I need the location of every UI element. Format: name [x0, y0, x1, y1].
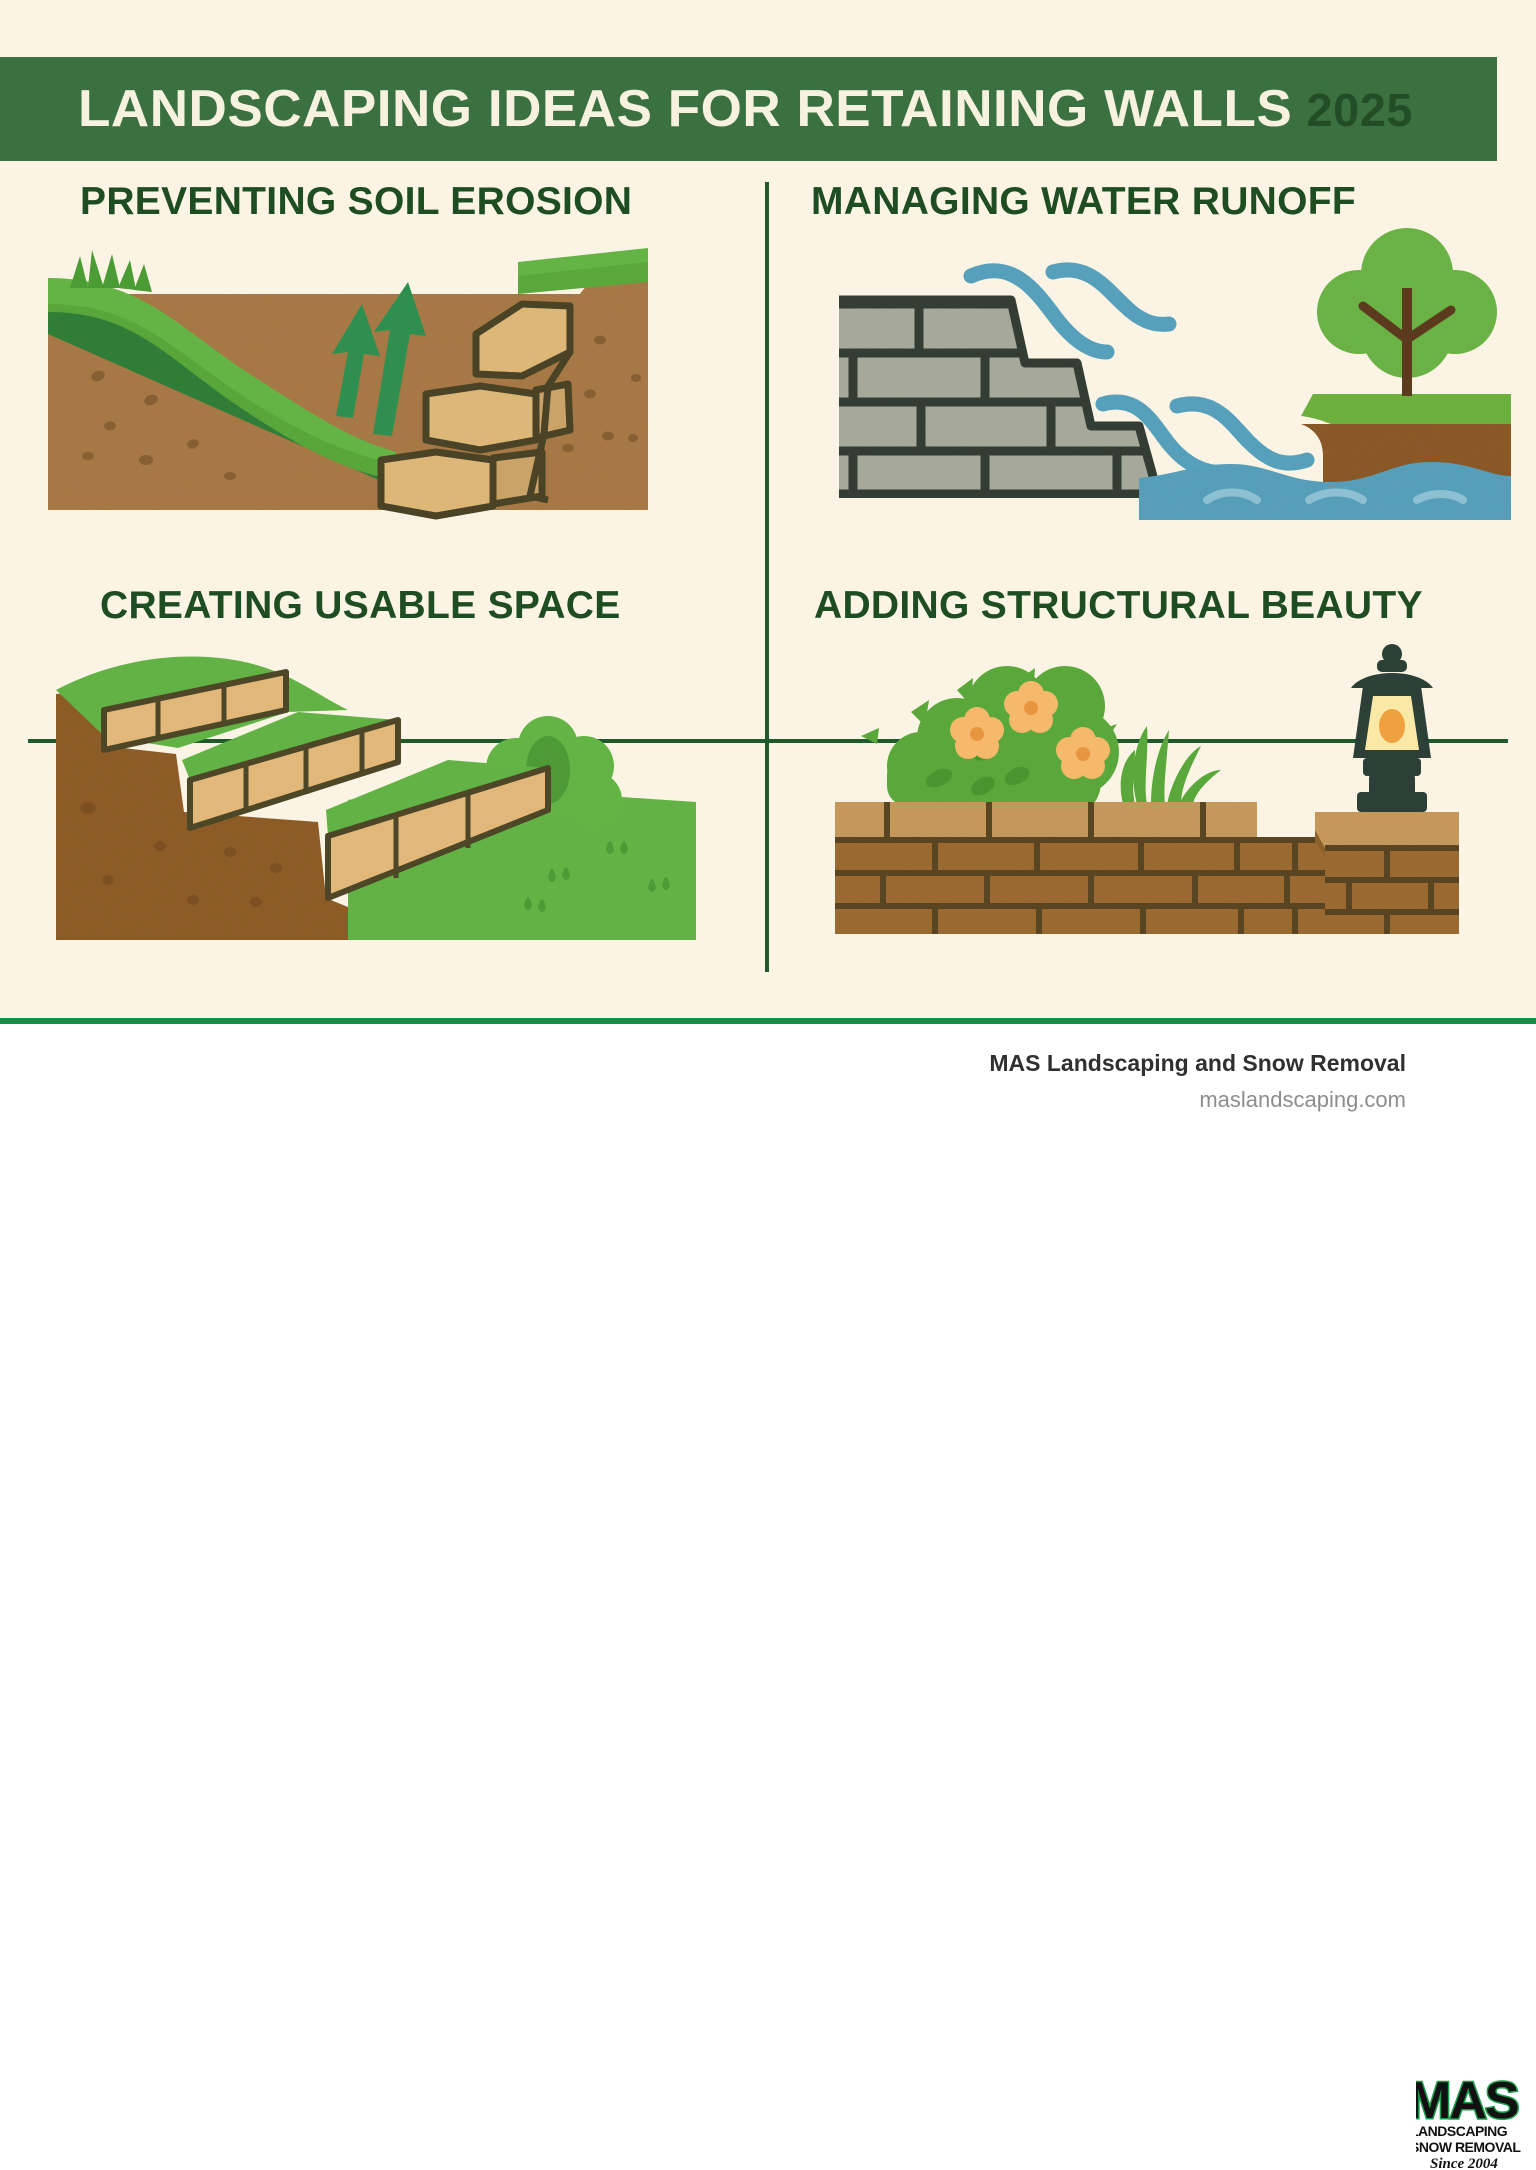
logo-subtitle: LANDSCAPING SNOW REMOVAL: [1416, 2123, 1521, 2155]
panel-managing-water-runoff: MANAGING WATER RUNOFF: [769, 170, 1536, 562]
logo-line2: SNOW REMOVAL: [1416, 2139, 1521, 2155]
tree: [1317, 228, 1497, 396]
lamp-base-upper: [1369, 774, 1415, 796]
footer-text-block: MAS Landscaping and Snow Removal masland…: [989, 1050, 1406, 1113]
panel-heading-4: ADDING STRUCTURAL BEAUTY: [814, 584, 1423, 628]
soil-erosion-svg: [48, 248, 656, 520]
usable-space-svg: [48, 650, 696, 940]
panel-adding-structural-beauty: ADDING STRUCTURAL BEAUTY: [769, 574, 1536, 980]
grass-tuft: [1121, 726, 1221, 804]
panel-grid: PREVENTING SOIL EROSION: [0, 170, 1536, 1010]
block-bottom: [381, 452, 493, 516]
flowering-bush: [861, 666, 1119, 818]
wall-capstone: [835, 802, 1257, 840]
panel-heading-1: PREVENTING SOIL EROSION: [80, 180, 632, 224]
page-title-text: LANDSCAPING IDEAS FOR RETAINING WALLS: [78, 80, 1292, 138]
water-stream-4: [1177, 404, 1307, 463]
structural-beauty-svg: [817, 634, 1477, 934]
infographic-root: LANDSCAPING IDEAS FOR RETAINING WALLS202…: [0, 0, 1536, 1154]
bank-grass: [1301, 394, 1511, 424]
water-runoff-svg: [839, 228, 1511, 520]
illustration-soil-erosion: [48, 248, 656, 520]
title-bar: LANDSCAPING IDEAS FOR RETAINING WALLS202…: [0, 57, 1497, 161]
panel-heading-2: MANAGING WATER RUNOFF: [811, 180, 1356, 224]
illustration-usable-space: [48, 650, 696, 940]
logo-line1: LANDSCAPING: [1416, 2123, 1508, 2139]
footer-company-name: MAS Landscaping and Snow Removal: [989, 1050, 1406, 1077]
block-middle: [426, 386, 536, 450]
pillar-cap: [1315, 812, 1459, 848]
logo-mas-text: MAS: [1416, 2072, 1518, 2130]
lamp-collar: [1363, 758, 1421, 776]
lamp-post: [1351, 644, 1433, 812]
wall-step-section: [1247, 840, 1337, 934]
water-stream-2: [1053, 270, 1169, 324]
lamp-flame: [1379, 709, 1405, 743]
mas-logo-svg: MAS LANDSCAPING SNOW REMOVAL Since 2004: [1416, 2070, 1536, 2170]
lamp-roof: [1351, 673, 1433, 688]
illustration-structural-beauty: [817, 634, 1477, 934]
infographic-canvas: LANDSCAPING IDEAS FOR RETAINING WALLS202…: [0, 0, 1536, 1023]
panel-creating-usable-space: CREATING USABLE SPACE: [0, 574, 765, 980]
page-title: LANDSCAPING IDEAS FOR RETAINING WALLS202…: [78, 79, 1413, 139]
mas-logo: MAS LANDSCAPING SNOW REMOVAL Since 2004: [1416, 2070, 1536, 2170]
page-title-year: 2025: [1307, 84, 1413, 136]
footer: MAS Landscaping and Snow Removal masland…: [0, 1024, 1536, 1154]
panel-preventing-soil-erosion: PREVENTING SOIL EROSION: [0, 170, 765, 562]
logo-tagline: Since 2004: [1430, 2156, 1498, 2170]
pillar-body: [1325, 848, 1459, 934]
panel-heading-3: CREATING USABLE SPACE: [100, 584, 621, 628]
illustration-water-runoff: [839, 228, 1511, 520]
lamp-pillar: [1315, 812, 1467, 934]
lamp-finial: [1382, 644, 1402, 664]
grass-tufts: [70, 250, 152, 292]
logo-mark: MAS: [1416, 2072, 1518, 2130]
footer-website-url[interactable]: maslandscaping.com: [989, 1087, 1406, 1113]
